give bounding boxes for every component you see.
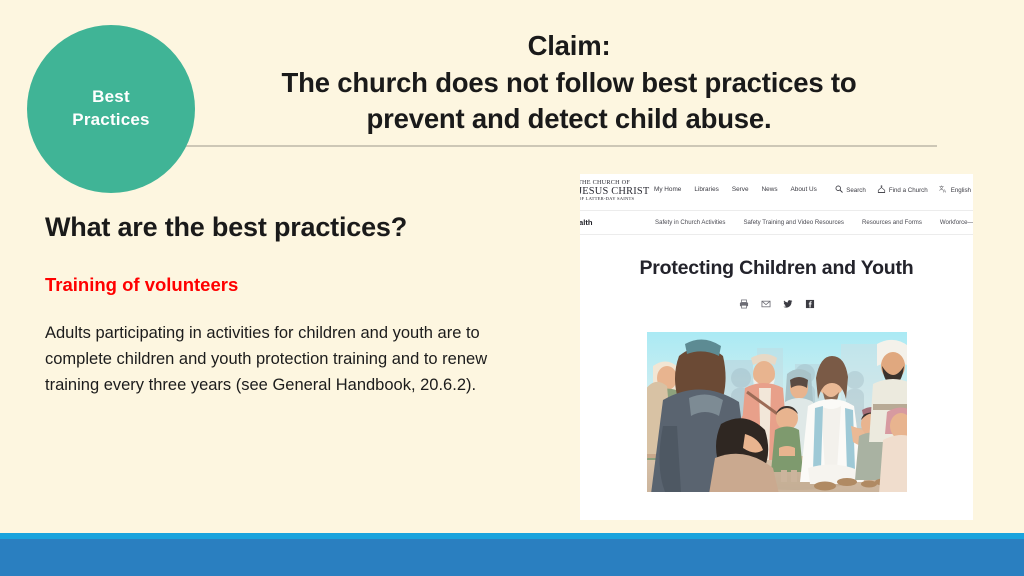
search-button[interactable]: Search [835, 185, 866, 195]
claim-line-2: The church does not follow best practice… [200, 65, 938, 102]
svg-text:A: A [943, 188, 946, 193]
badge-label-line2: Practices [72, 109, 149, 132]
utility-nav: Search Find a Church [835, 185, 971, 195]
twitter-icon[interactable] [783, 296, 793, 314]
subnav-link-resources-and-forms[interactable]: Resources and Forms [862, 219, 922, 226]
logo-line-3: OF LATTER-DAY SAINTS [580, 197, 690, 202]
search-icon [835, 185, 843, 195]
find-a-church-label: Find a Church [889, 187, 928, 194]
subnav-links: Safety in Church Activities Safety Train… [655, 219, 973, 226]
share-icon-row [580, 296, 973, 314]
email-icon[interactable] [761, 296, 771, 314]
claim-line-3: prevent and detect child abuse. [200, 101, 938, 138]
illustration-svg [645, 330, 909, 494]
website-top-nav: THE CHURCH OF JESUS CHRIST OF LATTER-DAY… [580, 174, 973, 210]
website-screenshot-panel: THE CHURCH OF JESUS CHRIST OF LATTER-DAY… [580, 174, 973, 520]
website-page-title: Protecting Children and Youth [580, 257, 973, 280]
bottom-bar-blue [0, 539, 1024, 576]
subnav-link-safety-training-and-video-resources[interactable]: Safety Training and Video Resources [743, 219, 844, 226]
nav-link-serve[interactable]: Serve [732, 186, 749, 193]
claim-line-1: Claim: [200, 28, 938, 65]
claim-title: Claim: The church does not follow best p… [200, 28, 938, 138]
search-label: Search [846, 187, 866, 194]
language-selector[interactable]: 文 A English [939, 185, 971, 195]
section-subheading: Training of volunteers [45, 274, 515, 296]
badge-label-line1: Best [92, 86, 130, 109]
subnav-link-safety-in-church-activities[interactable]: Safety in Church Activities [655, 219, 725, 226]
nav-link-my-home[interactable]: My Home [654, 186, 681, 193]
main-nav-links: My Home Libraries Serve News About Us [654, 186, 817, 193]
subnav-link-workforce-safety[interactable]: Workforce—Safety, I [940, 219, 973, 226]
slide-canvas: Best Practices Claim: The church does no… [0, 0, 1024, 576]
nav-link-libraries[interactable]: Libraries [694, 186, 719, 193]
header-divider [185, 145, 937, 147]
best-practices-badge: Best Practices [27, 25, 195, 193]
section-heading: What are the best practices? [45, 212, 515, 243]
nav-link-news[interactable]: News [762, 186, 778, 193]
find-a-church-button[interactable]: Find a Church [877, 185, 928, 195]
language-label: English [951, 187, 971, 194]
website-sub-nav: alth Safety in Church Activities Safety … [580, 210, 973, 235]
facebook-icon[interactable] [805, 296, 815, 314]
illustration-jesus-with-children [645, 330, 909, 494]
print-icon[interactable] [739, 296, 749, 314]
body-paragraph: Adults participating in activities for c… [45, 321, 515, 399]
nav-link-about-us[interactable]: About Us [791, 186, 817, 193]
church-icon [877, 185, 886, 195]
left-content-column: What are the best practices? Training of… [45, 212, 515, 399]
subnav-brand-label: alth [580, 218, 593, 227]
language-icon: 文 A [939, 185, 948, 195]
